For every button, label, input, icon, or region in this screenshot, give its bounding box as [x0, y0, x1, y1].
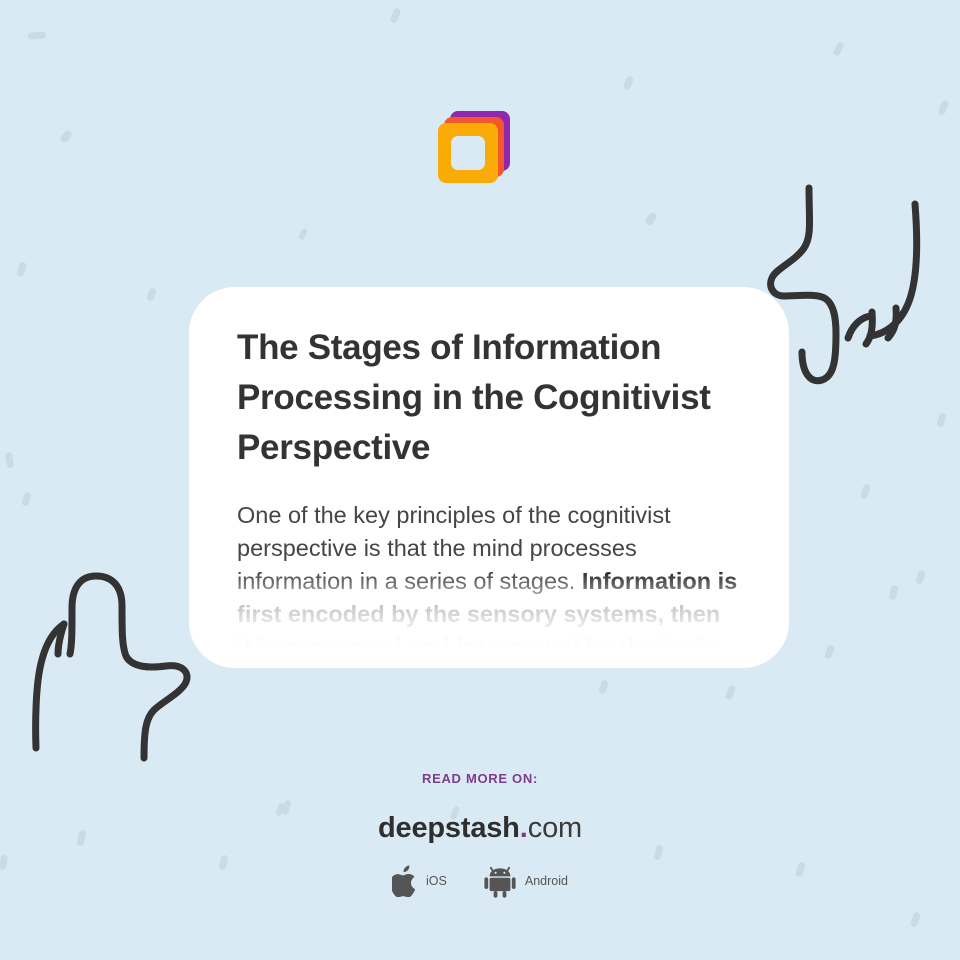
- speck: [824, 644, 835, 660]
- speck: [860, 483, 871, 499]
- speck: [390, 7, 402, 23]
- deepstash-wordmark[interactable]: deepstash.com: [0, 812, 960, 845]
- deepstash-logo: [428, 103, 520, 195]
- speck: [724, 684, 736, 701]
- app-store-badges: iOS: [0, 864, 960, 898]
- speck: [937, 99, 949, 116]
- speck: [832, 41, 844, 57]
- android-icon: [483, 864, 517, 898]
- android-label: Android: [525, 874, 568, 888]
- speck: [598, 679, 609, 694]
- card-inner: The Stages of Information Processing in …: [189, 287, 789, 668]
- speck: [298, 227, 308, 240]
- apple-icon: [392, 865, 418, 897]
- android-store-badge[interactable]: Android: [483, 864, 568, 898]
- speck: [644, 211, 658, 227]
- speck: [16, 261, 27, 277]
- wordmark-brand: deepstash: [378, 812, 520, 844]
- speck: [623, 75, 635, 91]
- speck: [653, 844, 664, 860]
- wordmark-tld: com: [528, 812, 582, 844]
- speck: [910, 911, 921, 927]
- poster-canvas: The Stages of Information Processing in …: [0, 0, 960, 960]
- content-card: The Stages of Information Processing in …: [189, 287, 789, 668]
- speck: [936, 412, 947, 427]
- speck: [28, 31, 46, 39]
- ios-label: iOS: [426, 874, 447, 888]
- card-body-text: One of the key principles of the cogniti…: [237, 499, 741, 668]
- speck: [5, 452, 15, 469]
- speck: [21, 491, 32, 507]
- speck: [915, 569, 926, 585]
- pointing-hand-up-illustration: [22, 562, 202, 782]
- ios-store-badge[interactable]: iOS: [392, 865, 447, 897]
- read-more-label: READ MORE ON:: [0, 771, 960, 786]
- speck: [146, 287, 157, 302]
- speck: [889, 584, 899, 600]
- wordmark-dot: .: [520, 812, 528, 844]
- page-title: The Stages of Information Processing in …: [237, 323, 741, 473]
- speck: [59, 129, 73, 144]
